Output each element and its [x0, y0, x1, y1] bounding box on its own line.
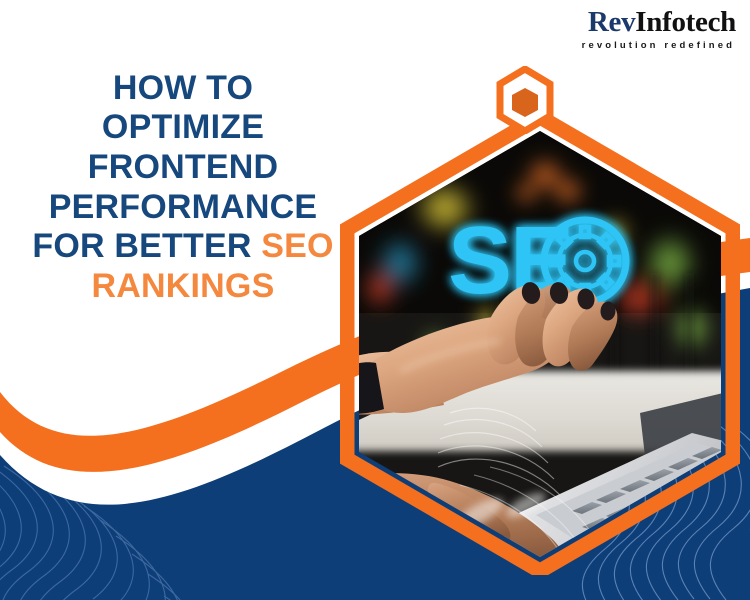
- headline-accent-rankings: RANKINGS: [18, 267, 348, 307]
- hexagon-badge-svg: [494, 66, 556, 134]
- logo-rev-text: Rev: [588, 6, 635, 38]
- headline-line-2: OPTIMIZE: [18, 108, 348, 148]
- headline-line-3: FRONTEND: [18, 148, 348, 188]
- headline-line-5: FOR BETTER SEO: [18, 227, 348, 267]
- hero-image-hexagon: SE: [340, 113, 740, 575]
- logo-wordmark: RevInfotech: [582, 8, 736, 37]
- logo-tagline: revolution redefined: [582, 41, 736, 51]
- hero-photo: SE: [340, 113, 740, 575]
- hero-hexagon-svg: SE: [340, 113, 740, 575]
- hexagon-badge: [494, 66, 556, 134]
- brand-logo: RevInfotech revolution redefined: [582, 8, 736, 51]
- headline-line-1: HOW TO: [18, 69, 348, 109]
- page-title: HOW TO OPTIMIZE FRONTEND PERFORMANCE FOR…: [18, 69, 348, 307]
- poster-canvas: RevInfotech revolution redefined HOW TO …: [0, 0, 750, 600]
- headline-accent-seo: SEO: [261, 227, 333, 265]
- logo-infotech-text: Infotech: [635, 6, 736, 38]
- headline-line-5-plain: FOR BETTER: [32, 227, 261, 265]
- headline-line-4: PERFORMANCE: [18, 188, 348, 228]
